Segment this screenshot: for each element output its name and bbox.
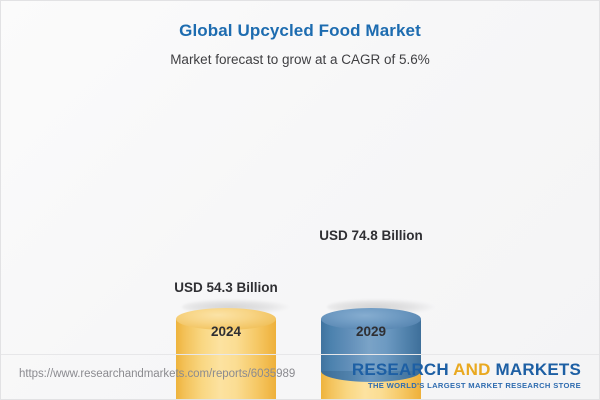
value-label-2029: USD 74.8 Billion bbox=[319, 228, 423, 243]
source-url-link[interactable]: https://www.researchandmarkets.com/repor… bbox=[19, 368, 295, 380]
category-label-2024: 2024 bbox=[211, 324, 241, 339]
logo-wordmark: RESEARCH AND MARKETS bbox=[352, 361, 581, 379]
logo-word-and: AND bbox=[453, 360, 490, 379]
chart-card: Global Upcycled Food Market Market forec… bbox=[0, 0, 600, 400]
logo-tagline: THE WORLD'S LARGEST MARKET RESEARCH STOR… bbox=[352, 381, 581, 390]
category-label-2029: 2029 bbox=[356, 324, 386, 339]
footer: https://www.researchandmarkets.com/repor… bbox=[1, 354, 599, 399]
value-label-2024: USD 54.3 Billion bbox=[174, 280, 278, 295]
logo-word-research: RESEARCH bbox=[352, 360, 453, 379]
research-and-markets-logo[interactable]: RESEARCH AND MARKETS THE WORLD'S LARGEST… bbox=[352, 361, 581, 390]
plot-area: USD 54.3 Billion 2024 USD 74.8 Billion bbox=[1, 1, 600, 356]
logo-word-markets: MARKETS bbox=[491, 360, 581, 379]
